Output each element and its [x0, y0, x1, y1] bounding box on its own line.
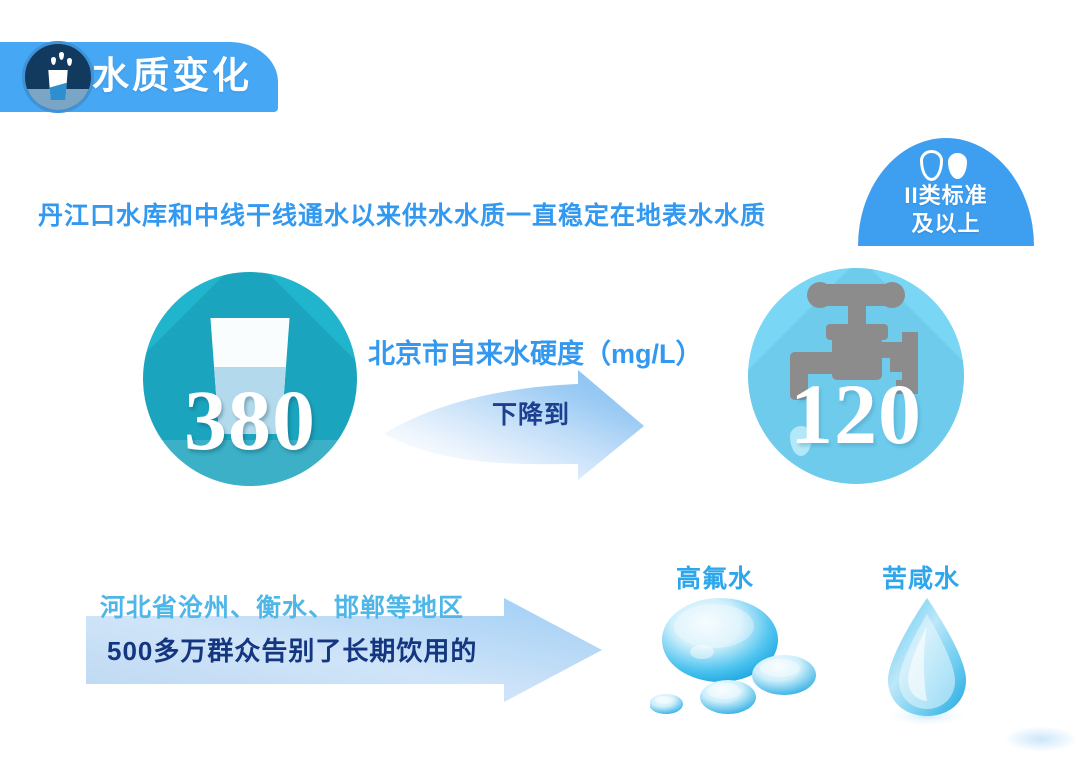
before-value: 380 — [143, 370, 357, 470]
water-drop-icon — [59, 52, 64, 60]
status-badge: II类标准 及以上 — [858, 138, 1034, 246]
before-value-circle: 380 — [143, 272, 357, 486]
water-blobs-icon — [650, 596, 840, 724]
water-glass-icon — [22, 41, 94, 113]
banner-line2: 500多万群众告别了长期饮用的 — [107, 631, 477, 668]
after-value: 120 — [748, 364, 964, 464]
status-badge-label: II类标准 及以上 — [858, 182, 1034, 238]
decorative-smudge — [1004, 726, 1078, 752]
water-drop-icon — [51, 57, 56, 65]
infographic-page: 水质变化 丹江口水库和中线干线通水以来供水水质一直稳定在地表水水质 II类标准 … — [0, 0, 1080, 780]
water-drop-icon — [67, 58, 72, 66]
water-drop-solid-icon — [948, 153, 967, 179]
water-type-label-fluoride: 高氟水 — [676, 559, 754, 595]
after-value-circle: 120 — [748, 268, 964, 484]
status-badge-line2: 及以上 — [858, 210, 1034, 238]
badge-drop-icons — [858, 148, 1034, 182]
status-badge-line1: II类标准 — [858, 182, 1034, 210]
comparison-label: 北京市自来水硬度（mg/L） — [368, 332, 703, 371]
water-teardrop-icon — [868, 592, 986, 728]
water-drop-outline-icon — [920, 150, 943, 181]
banner-line1: 河北省沧州、衡水、邯郸等地区 — [100, 588, 464, 624]
water-type-label-saline: 苦咸水 — [882, 559, 960, 595]
page-title: 水质变化 — [92, 44, 282, 108]
comparison-transition-label: 下降到 — [492, 395, 570, 431]
headline-text: 丹江口水库和中线干线通水以来供水水质一直稳定在地表水水质 — [38, 196, 848, 232]
glass-shape — [47, 70, 69, 100]
